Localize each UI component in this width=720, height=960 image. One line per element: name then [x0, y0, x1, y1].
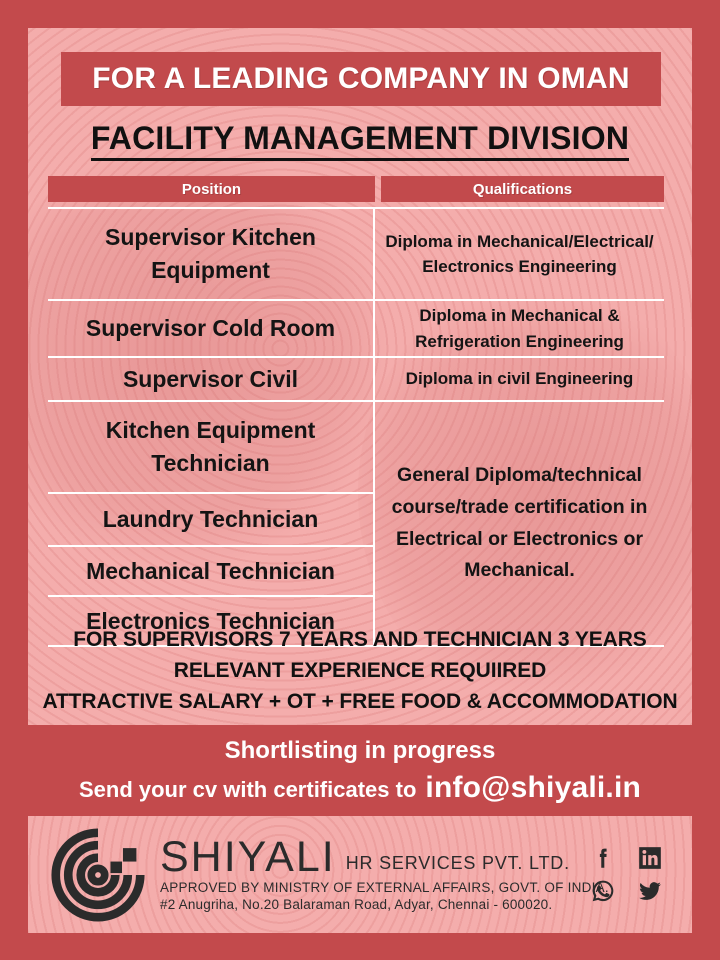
approval-line: APPROVED BY MINISTRY OF EXTERNAL AFFAIRS… — [160, 880, 590, 895]
table-row: Laundry Technician — [48, 494, 373, 547]
experience-line-3: ATTRACTIVE SALARY + OT + FREE FOOD & ACC… — [28, 687, 692, 718]
column-header-position: Position — [48, 176, 375, 202]
contact-instruction: Send your cv with certificates to — [79, 777, 416, 803]
qualification-cell: Diploma in Mechanical & Refrigeration En… — [375, 301, 664, 358]
experience-line-2: RELEVANT EXPERIENCE REQUIIRED — [28, 656, 692, 687]
shiyali-logo-icon — [50, 827, 146, 923]
qualification-cell: Diploma in Mechanical/Electrical/ Electr… — [375, 209, 664, 301]
table-row: Supervisor Cold Room — [48, 301, 373, 358]
experience-requirements: FOR SUPERVISORS 7 YEARS AND TECHNICIAN 3… — [28, 625, 692, 718]
qualification-cell: Diploma in civil Engineering — [375, 358, 664, 402]
brand-name-row: SHIYALI HR SERVICES PVT. LTD. — [160, 837, 590, 878]
table-body: Supervisor Kitchen Equipment Supervisor … — [48, 207, 664, 647]
banner-title-bar: FOR A LEADING COMPANY IN OMAN — [61, 52, 661, 106]
twitter-icon[interactable] — [637, 878, 663, 904]
experience-line-1: FOR SUPERVISORS 7 YEARS AND TECHNICIAN 3… — [28, 625, 692, 656]
footer-panel: SHIYALI HR SERVICES PVT. LTD. APPROVED B… — [28, 816, 692, 933]
main-poster-panel: FOR A LEADING COMPANY IN OMAN FACILITY M… — [28, 28, 692, 725]
whatsapp-icon[interactable] — [590, 878, 616, 904]
table-header-row: Position Qualifications — [48, 176, 664, 202]
shortlisting-status: Shortlisting in progress — [225, 737, 496, 765]
address-line: #2 Anugriha, No.20 Balaraman Road, Adyar… — [160, 897, 590, 912]
brand-name: SHIYALI — [160, 837, 336, 878]
brand-subtitle: HR SERVICES PVT. LTD. — [346, 853, 570, 877]
table-row: Supervisor Civil — [48, 358, 373, 402]
contact-band: Shortlisting in progress Send your cv wi… — [0, 725, 720, 816]
table-row: Supervisor Kitchen Equipment — [48, 209, 373, 301]
qualification-cell-merged: General Diploma/technical course/trade c… — [375, 402, 664, 647]
table-row: Kitchen Equipment Technician — [48, 402, 373, 494]
qualification-column: Diploma in Mechanical/Electrical/ Electr… — [375, 209, 664, 647]
facebook-icon[interactable] — [590, 845, 616, 871]
column-header-qualifications: Qualifications — [381, 176, 664, 202]
social-icons — [590, 845, 676, 904]
division-subtitle-text: FACILITY MANAGEMENT DIVISION — [91, 120, 629, 161]
vacancy-table: Position Qualifications Supervisor Kitch… — [48, 176, 664, 647]
banner-title: FOR A LEADING COMPANY IN OMAN — [92, 62, 629, 96]
table-row: Mechanical Technician — [48, 547, 373, 597]
linkedin-icon[interactable] — [637, 845, 663, 871]
brand-block: SHIYALI HR SERVICES PVT. LTD. APPROVED B… — [160, 837, 590, 913]
contact-instruction-row: Send your cv with certificates to info@s… — [79, 771, 641, 805]
division-subtitle: FACILITY MANAGEMENT DIVISION — [28, 120, 692, 157]
position-column: Supervisor Kitchen Equipment Supervisor … — [48, 209, 375, 647]
contact-email[interactable]: info@shiyali.in — [425, 771, 641, 805]
